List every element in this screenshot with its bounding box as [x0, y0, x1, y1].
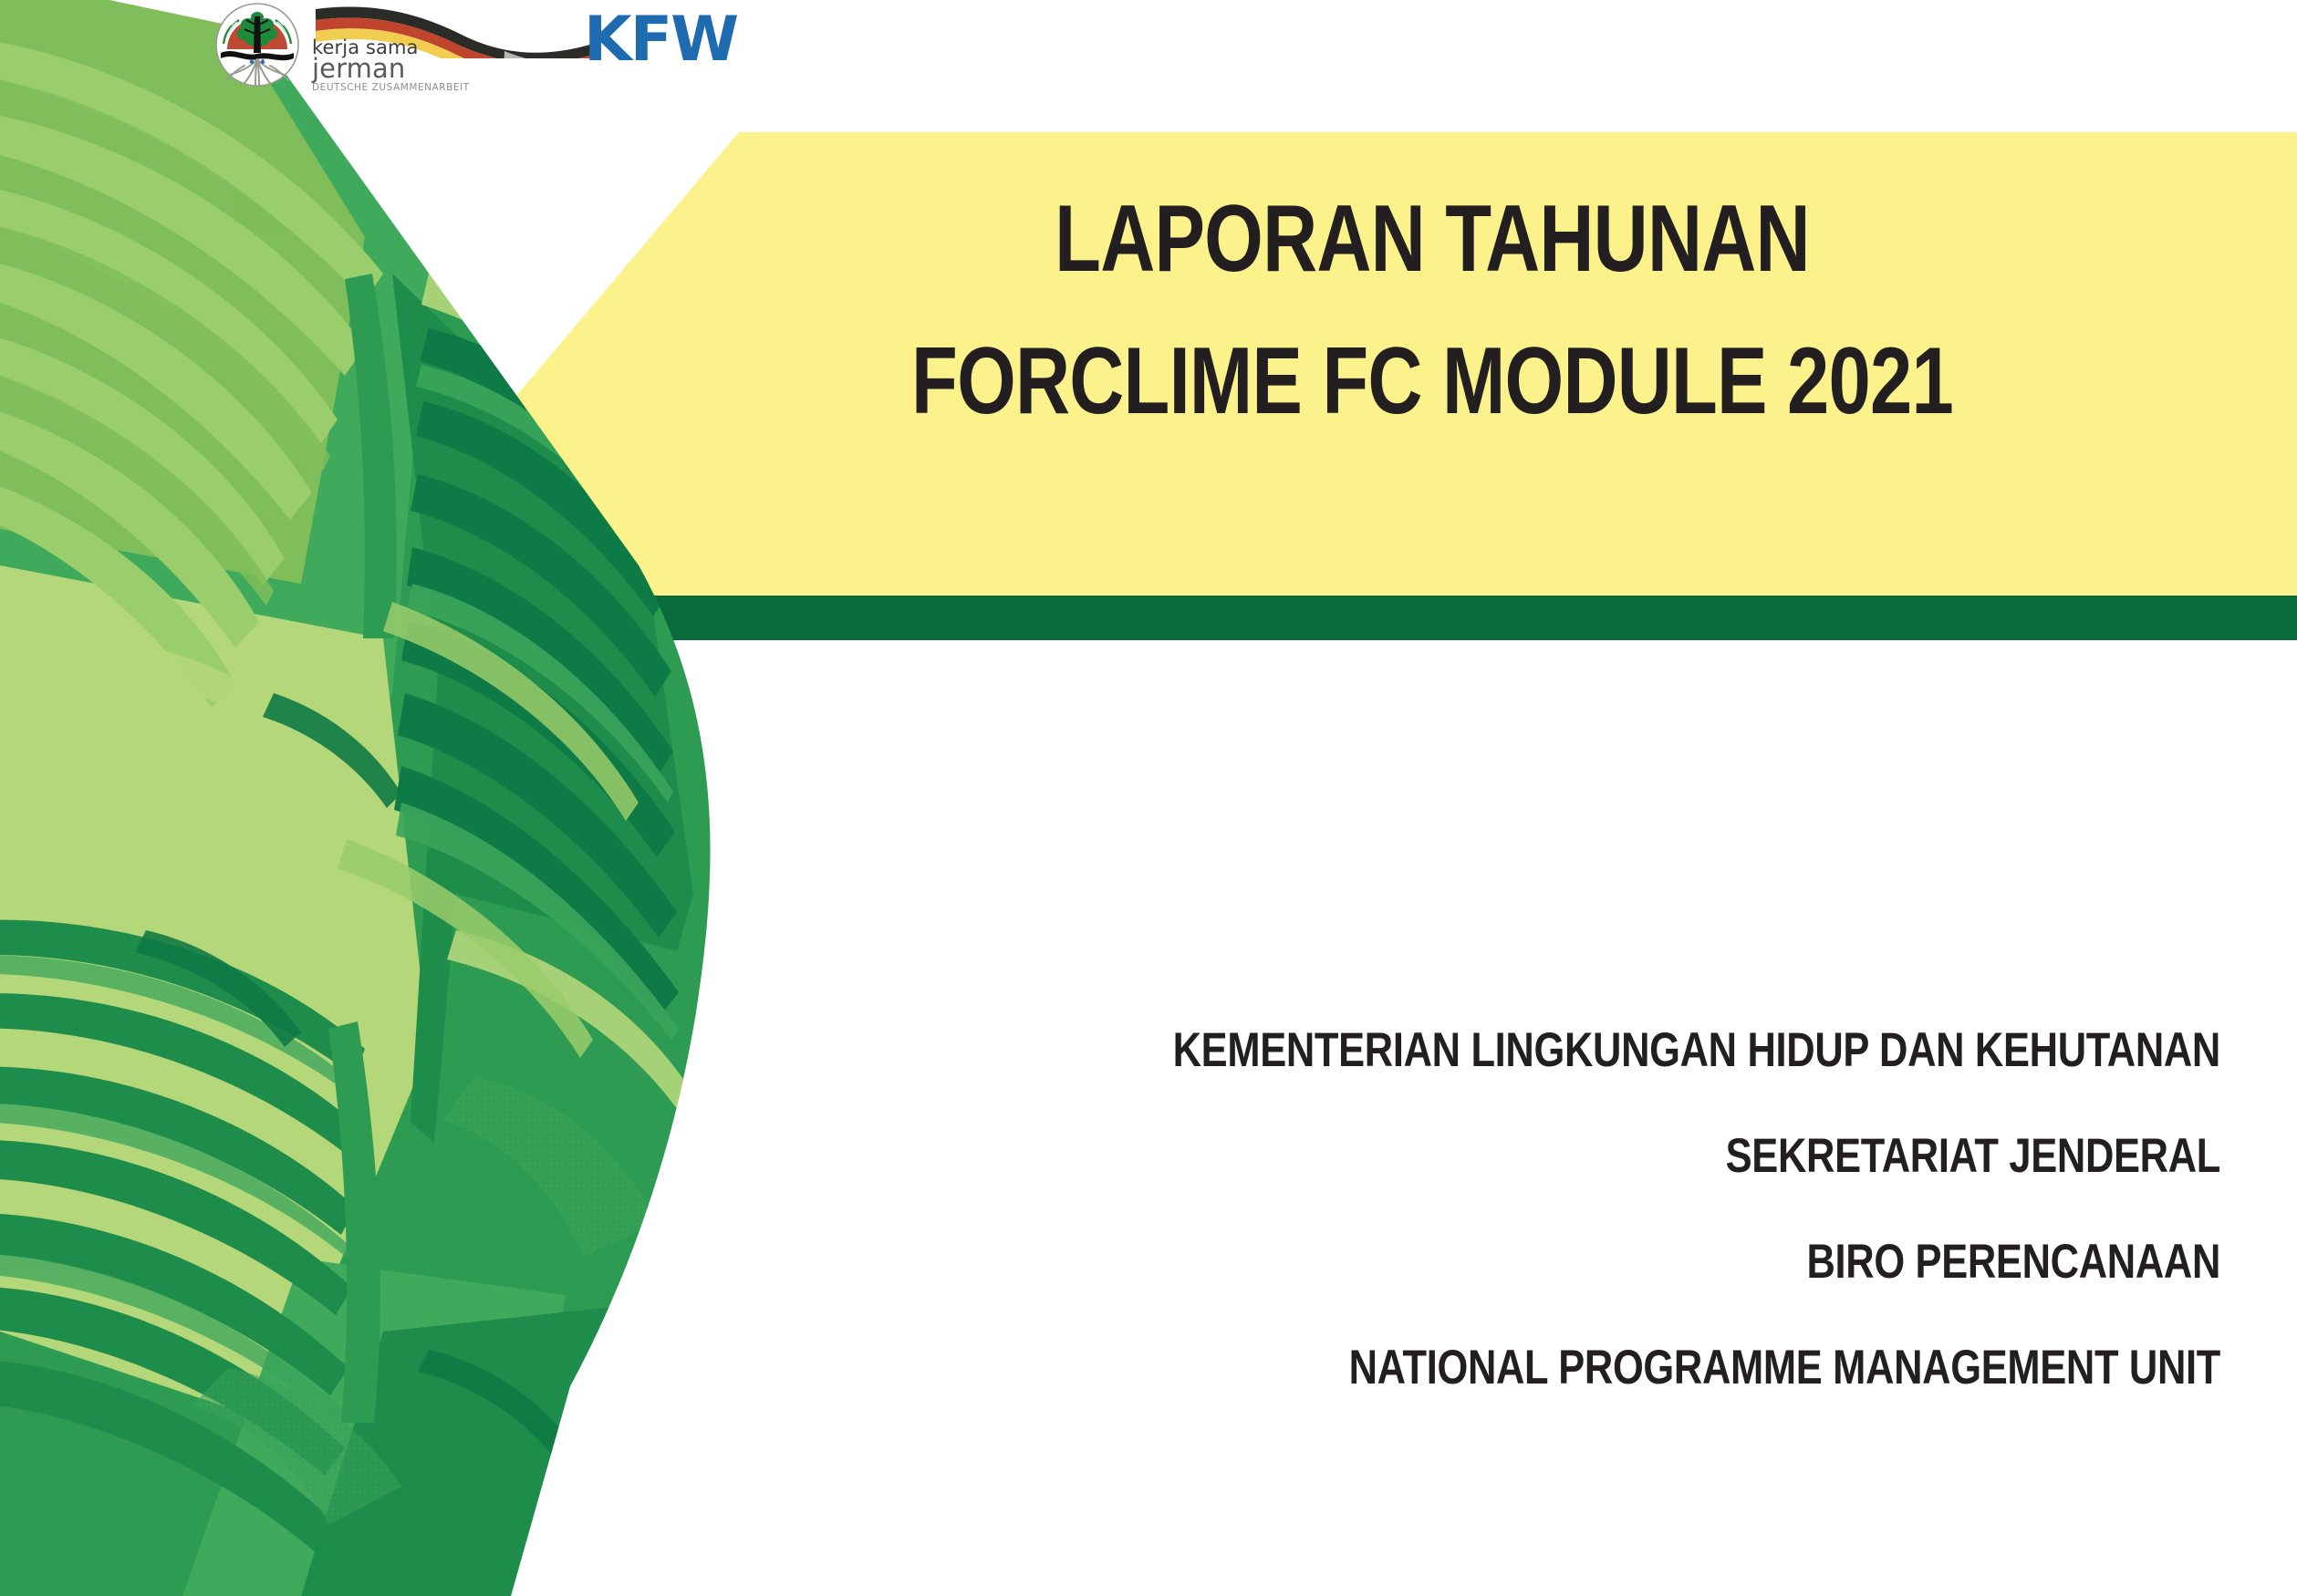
org-line-bureau: BIRO PERENCANAAN [1098, 1238, 2220, 1286]
org-line-secretariat: SEKRETARIAT JENDERAL [1098, 1132, 2220, 1180]
cover-page: kerja sama jerman DEUTSCHE ZUSAMMENARBEI… [0, 0, 2297, 1596]
german-coop-line-3: DEUTSCHE ZUSAMMENARBEIT [312, 83, 470, 93]
page-title-line-1: LAPORAN TAHUNAN [797, 192, 2067, 286]
page-title-line-2: FORCLIME FC MODULE 2021 [797, 334, 2067, 429]
german-cooperation-logo: kerja sama jerman DEUTSCHE ZUSAMMENARBEI… [308, 2, 600, 86]
title-block: LAPORAN TAHUNAN FORCLIME FC MODULE 2021 [639, 192, 2226, 429]
german-cooperation-text: kerja sama jerman DEUTSCHE ZUSAMMENARBEI… [312, 38, 470, 93]
german-coop-line-2: jerman [312, 56, 470, 82]
logo-row: kerja sama jerman DEUTSCHE ZUSAMMENARBEI… [212, 2, 794, 86]
organisation-block: KEMENTERIAN LINGKUNGAN HIDUP DAN KEHUTAN… [852, 1026, 2220, 1392]
org-line-ministry: KEMENTERIAN LINGKUNGAN HIDUP DAN KEHUTAN… [1098, 1026, 2220, 1074]
kfw-logo: KFW [584, 4, 794, 77]
org-line-npmu: NATIONAL PROGRAMME MANAGEMENT UNIT [1098, 1343, 2220, 1392]
kfw-wordmark-text: KFW [584, 4, 737, 76]
klhk-ministry-emblem-icon [212, 2, 303, 84]
tropical-leaf-artwork [0, 0, 748, 1596]
